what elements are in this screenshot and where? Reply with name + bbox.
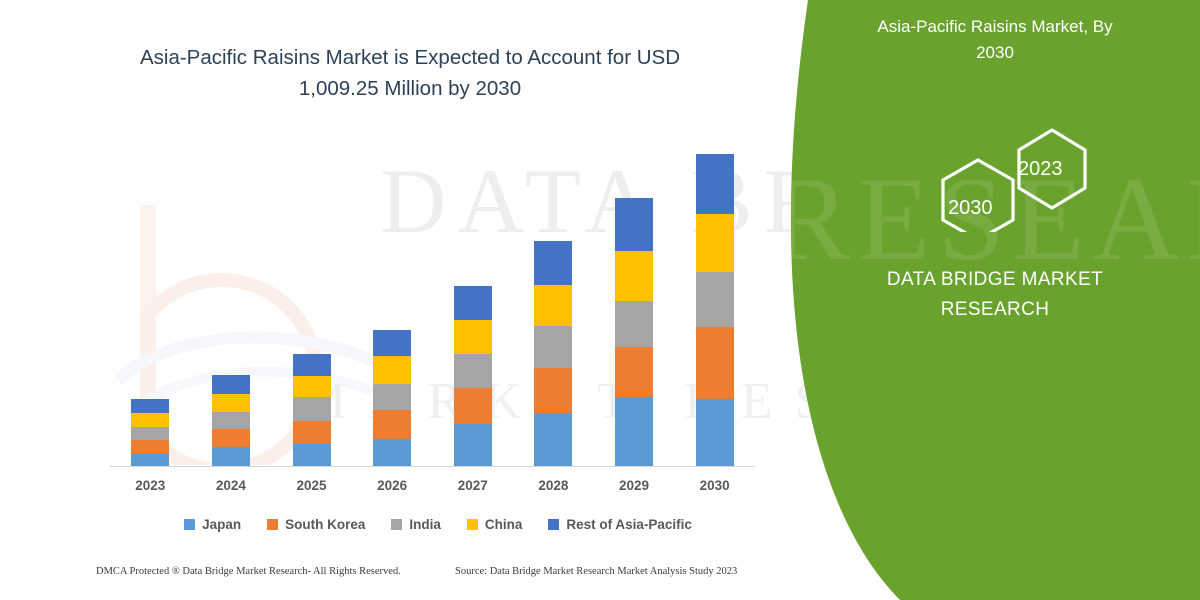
bar-segment-japan-2028[interactable] <box>534 413 572 466</box>
legend-label: Rest of Asia-Pacific <box>566 517 692 532</box>
legend-label: India <box>409 517 441 532</box>
brand-name: DATA BRIDGE MARKET RESEARCH <box>820 265 1170 325</box>
bar-column-2030[interactable] <box>674 140 755 466</box>
bar-segment-south-korea-2026[interactable] <box>373 410 411 439</box>
bar-column-2025[interactable] <box>271 140 352 466</box>
legend-item-japan[interactable]: Japan <box>184 517 241 532</box>
bar-segment-japan-2027[interactable] <box>454 424 492 466</box>
bar-segment-japan-2026[interactable] <box>373 439 411 466</box>
bar-segment-south-korea-2029[interactable] <box>615 347 653 397</box>
x-tick-label-2023: 2023 <box>110 478 191 498</box>
x-axis-line <box>110 466 755 467</box>
infographic-canvas: DATA BRIDGE MARKET RESEARCH Asia-Pacific… <box>0 0 1200 600</box>
x-tick-label-2026: 2026 <box>352 478 433 498</box>
legend-item-rest-of-asia-pacific[interactable]: Rest of Asia-Pacific <box>548 517 692 532</box>
bar-stack <box>534 241 572 466</box>
bar-stack <box>615 198 653 466</box>
bar-stack <box>696 154 734 466</box>
bar-segment-china-2028[interactable] <box>534 285 572 326</box>
bar-segment-south-korea-2024[interactable] <box>212 429 250 447</box>
bar-segment-china-2025[interactable] <box>293 376 331 397</box>
chart-legend: JapanSouth KoreaIndiaChinaRest of Asia-P… <box>118 512 758 536</box>
legend-item-china[interactable]: China <box>467 517 523 532</box>
bar-segment-rest-of-asia-pacific-2023[interactable] <box>131 399 169 413</box>
bar-segment-south-korea-2023[interactable] <box>131 440 169 454</box>
bar-segment-china-2030[interactable] <box>696 214 734 272</box>
x-tick-label-2028: 2028 <box>513 478 594 498</box>
bar-segment-south-korea-2028[interactable] <box>534 368 572 413</box>
panel-title: Asia-Pacific Raisins Market, By 2030 <box>810 14 1180 66</box>
brand-line-2: RESEARCH <box>820 295 1170 325</box>
bar-column-2024[interactable] <box>191 140 272 466</box>
x-axis-tick-labels: 20232024202520262027202820292030 <box>110 478 755 498</box>
footer-source-text: Source: Data Bridge Market Research Mark… <box>455 566 737 577</box>
page-title-line-1: Asia-Pacific Raisins Market is Expected … <box>140 46 680 69</box>
legend-item-india[interactable]: India <box>391 517 441 532</box>
bar-column-2026[interactable] <box>352 140 433 466</box>
bar-segment-india-2026[interactable] <box>373 384 411 410</box>
hexagon-outline-icons <box>900 122 1100 232</box>
bar-segment-china-2029[interactable] <box>615 251 653 301</box>
panel-title-line-2: 2030 <box>810 40 1180 66</box>
bar-group <box>110 140 755 466</box>
legend-label: Japan <box>202 517 241 532</box>
right-green-panel: RESEARCH Asia-Pacific Raisins Market, By… <box>780 0 1200 600</box>
legend-swatch-icon <box>184 519 195 530</box>
bar-segment-india-2027[interactable] <box>454 354 492 388</box>
x-tick-label-2024: 2024 <box>191 478 272 498</box>
green-panel-content: RESEARCH Asia-Pacific Raisins Market, By… <box>780 0 1200 600</box>
bar-segment-india-2029[interactable] <box>615 301 653 347</box>
bar-stack <box>212 375 250 466</box>
bar-segment-rest-of-asia-pacific-2026[interactable] <box>373 330 411 356</box>
x-tick-label-2029: 2029 <box>594 478 675 498</box>
bar-segment-rest-of-asia-pacific-2028[interactable] <box>534 241 572 285</box>
page-title: Asia-Pacific Raisins Market is Expected … <box>100 42 720 104</box>
hexagon-badges: 2023 2030 <box>900 122 1100 232</box>
bar-segment-south-korea-2027[interactable] <box>454 388 492 424</box>
panel-title-line-1: Asia-Pacific Raisins Market, By <box>810 14 1180 40</box>
bar-segment-china-2027[interactable] <box>454 320 492 354</box>
legend-swatch-icon <box>467 519 478 530</box>
bar-segment-india-2023[interactable] <box>131 427 169 440</box>
legend-item-south-korea[interactable]: South Korea <box>267 517 365 532</box>
bar-segment-rest-of-asia-pacific-2030[interactable] <box>696 154 734 214</box>
legend-swatch-icon <box>391 519 402 530</box>
legend-swatch-icon <box>548 519 559 530</box>
bar-segment-china-2026[interactable] <box>373 356 411 384</box>
bar-segment-india-2030[interactable] <box>696 272 734 327</box>
hexagon-2023-label: 2023 <box>1018 158 1063 181</box>
legend-swatch-icon <box>267 519 278 530</box>
hexagon-2030-label: 2030 <box>948 197 993 220</box>
bar-segment-india-2025[interactable] <box>293 397 331 421</box>
bar-segment-japan-2029[interactable] <box>615 397 653 466</box>
bar-segment-rest-of-asia-pacific-2027[interactable] <box>454 286 492 320</box>
bar-segment-south-korea-2030[interactable] <box>696 327 734 399</box>
x-tick-label-2027: 2027 <box>433 478 514 498</box>
bar-segment-rest-of-asia-pacific-2025[interactable] <box>293 354 331 376</box>
bar-segment-south-korea-2025[interactable] <box>293 421 331 444</box>
bar-stack <box>454 286 492 466</box>
bar-segment-rest-of-asia-pacific-2024[interactable] <box>212 375 250 394</box>
bar-stack <box>293 354 331 466</box>
bar-segment-japan-2030[interactable] <box>696 399 734 466</box>
bar-segment-japan-2025[interactable] <box>293 444 331 466</box>
legend-label: South Korea <box>285 517 365 532</box>
bar-segment-china-2023[interactable] <box>131 413 169 427</box>
x-tick-label-2030: 2030 <box>674 478 755 498</box>
footer: DMCA Protected ® Data Bridge Market Rese… <box>0 566 900 588</box>
bar-segment-india-2028[interactable] <box>534 326 572 368</box>
page-title-line-2: 1,009.25 Million by 2030 <box>299 77 521 100</box>
bar-column-2027[interactable] <box>433 140 514 466</box>
bar-segment-india-2024[interactable] <box>212 412 250 429</box>
footer-dmca-text: DMCA Protected ® Data Bridge Market Rese… <box>96 566 401 577</box>
legend-label: China <box>485 517 523 532</box>
x-tick-label-2025: 2025 <box>271 478 352 498</box>
bar-segment-japan-2023[interactable] <box>131 454 169 466</box>
bar-column-2028[interactable] <box>513 140 594 466</box>
bar-segment-rest-of-asia-pacific-2029[interactable] <box>615 198 653 251</box>
bar-segment-japan-2024[interactable] <box>212 447 250 466</box>
bar-column-2023[interactable] <box>110 140 191 466</box>
plot-area <box>110 140 755 467</box>
bar-stack <box>373 330 411 466</box>
chart-pane: Asia-Pacific Raisins Market is Expected … <box>0 0 900 600</box>
brand-line-1: DATA BRIDGE MARKET <box>820 265 1170 295</box>
hexagon-2030-icon <box>943 160 1013 232</box>
bar-segment-china-2024[interactable] <box>212 394 250 412</box>
bar-stack <box>131 399 169 466</box>
bar-column-2029[interactable] <box>594 140 675 466</box>
